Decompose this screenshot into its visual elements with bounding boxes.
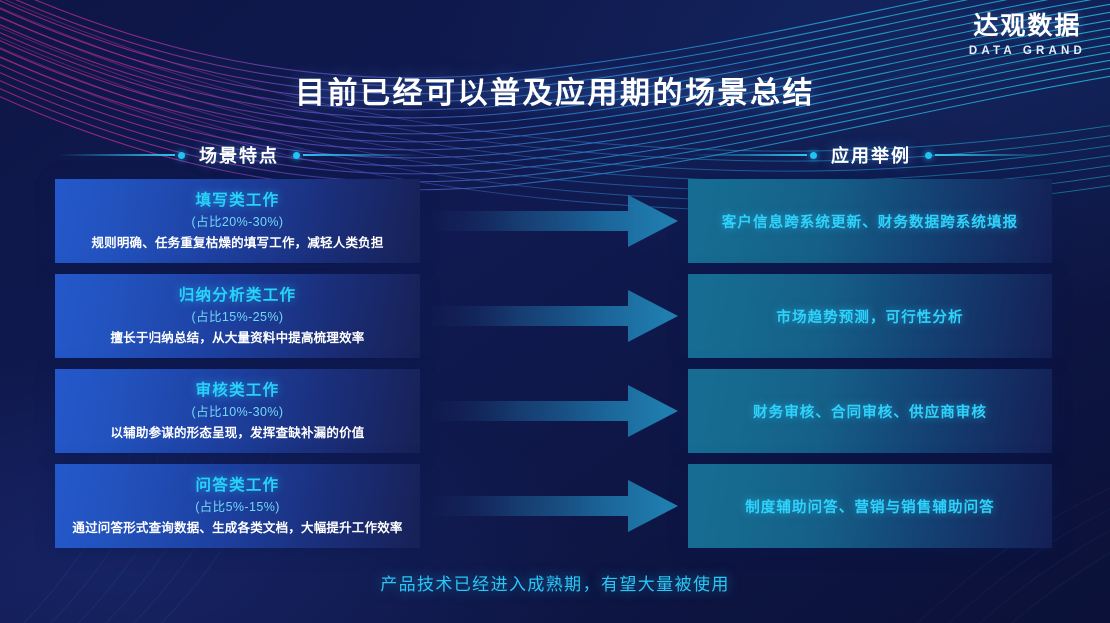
feature-description: 擅长于归纳总结，从大量资料中提高梳理效率 [110,331,364,345]
arrow-right-icon [432,383,678,439]
feature-card-2[interactable]: 归纳分析类工作 (占比15%-25%) 擅长于归纳总结，从大量资料中提高梳理效率 [55,274,420,358]
right-column-title: 应用举例 [831,142,911,168]
feature-title: 问答类工作 [195,477,279,495]
arrow-right-icon [432,288,678,344]
left-column-header: 场景特点 [58,141,420,169]
example-card-2[interactable]: 市场趋势预测，可行性分析 [688,274,1052,358]
footer-note: 产品技术已经进入成熟期，有望大量被使用 [0,570,1110,595]
brand-name-en: DATA GRAND [969,46,1086,58]
deco-line [303,154,420,156]
slide-root: 达观数据 DATA GRAND 目前已经可以普及应用期的场景总结 场景特点 应用… [0,0,1110,623]
example-card-4[interactable]: 制度辅助问答、营销与销售辅助问答 [688,464,1052,548]
brand-name-cn: 达观数据 [969,14,1086,39]
left-column-title: 场景特点 [199,142,279,168]
flow-arrow-1 [432,193,678,249]
arrow-right-icon [432,478,678,534]
example-text: 财务审核、合同审核、供应商审核 [753,401,987,422]
page-title: 目前已经可以普及应用期的场景总结 [0,68,1110,112]
feature-description: 通过问答形式查询数据、生成各类文档，大幅提升工作效率 [72,521,402,535]
feature-description: 规则明确、任务重复枯燥的填写工作，减轻人类负担 [91,236,383,250]
flow-arrow-3 [432,383,678,439]
feature-ratio: (占比15%-25%) [192,310,284,324]
feature-card-1[interactable]: 填写类工作 (占比20%-30%) 规则明确、任务重复枯燥的填写工作，减轻人类负… [55,179,420,263]
feature-card-4[interactable]: 问答类工作 (占比5%-15%) 通过问答形式查询数据、生成各类文档，大幅提升工… [55,464,420,548]
deco-dot-icon [925,152,932,159]
feature-title: 填写类工作 [195,192,279,210]
example-text: 市场趋势预测，可行性分析 [776,306,963,327]
deco-line [935,154,1052,156]
deco-line [690,154,807,156]
deco-line [58,154,175,156]
header-deco-left [690,152,817,159]
flow-arrow-4 [432,478,678,534]
right-column-header: 应用举例 [690,141,1052,169]
feature-card-3[interactable]: 审核类工作 (占比10%-30%) 以辅助参谋的形态呈现，发挥查缺补漏的价值 [55,369,420,453]
example-card-3[interactable]: 财务审核、合同审核、供应商审核 [688,369,1052,453]
example-text: 客户信息跨系统更新、财务数据跨系统填报 [722,211,1018,232]
example-text: 制度辅助问答、营销与销售辅助问答 [745,496,995,517]
feature-ratio: (占比10%-30%) [192,405,284,419]
flow-arrow-2 [432,288,678,344]
header-deco-right [925,152,1052,159]
feature-ratio: (占比5%-15%) [195,500,280,514]
header-deco-left [58,152,185,159]
feature-ratio: (占比20%-30%) [192,215,284,229]
example-card-1[interactable]: 客户信息跨系统更新、财务数据跨系统填报 [688,179,1052,263]
deco-dot-icon [293,152,300,159]
feature-title: 审核类工作 [195,382,279,400]
feature-title: 归纳分析类工作 [179,287,297,305]
arrow-right-icon [432,193,678,249]
header-deco-right [293,152,420,159]
deco-dot-icon [178,152,185,159]
brand-logo: 达观数据 DATA GRAND [969,14,1086,58]
deco-dot-icon [810,152,817,159]
feature-description: 以辅助参谋的形态呈现，发挥查缺补漏的价值 [110,426,364,440]
